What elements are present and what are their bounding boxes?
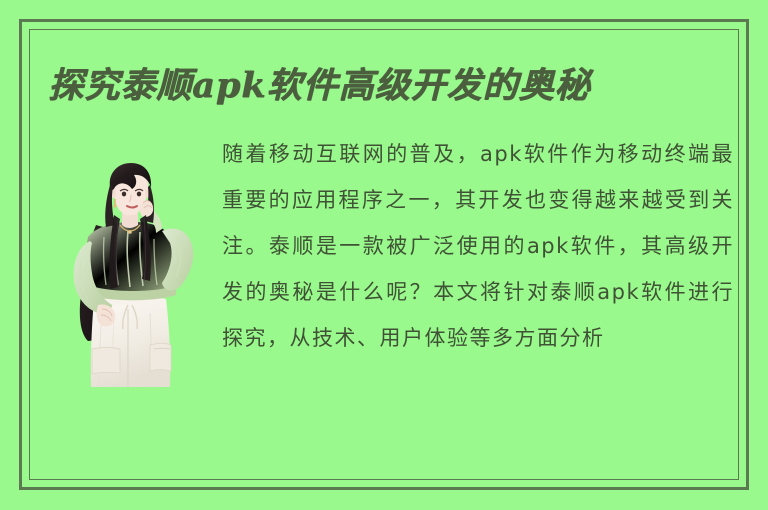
article-paragraph: 随着移动互联网的普及，apk软件作为移动终端最重要的应用程序之一，其开发也变得越… bbox=[222, 131, 734, 361]
woman-illustration-icon bbox=[58, 163, 204, 387]
page-title: 探究泰顺apk软件高级开发的奥秘 bbox=[48, 63, 708, 109]
poster-canvas: 探究泰顺apk软件高级开发的奥秘 bbox=[0, 0, 768, 510]
article-body: 随着移动互联网的普及，apk软件作为移动终端最重要的应用程序之一，其开发也变得越… bbox=[222, 131, 734, 361]
illustration-figure bbox=[58, 163, 204, 387]
